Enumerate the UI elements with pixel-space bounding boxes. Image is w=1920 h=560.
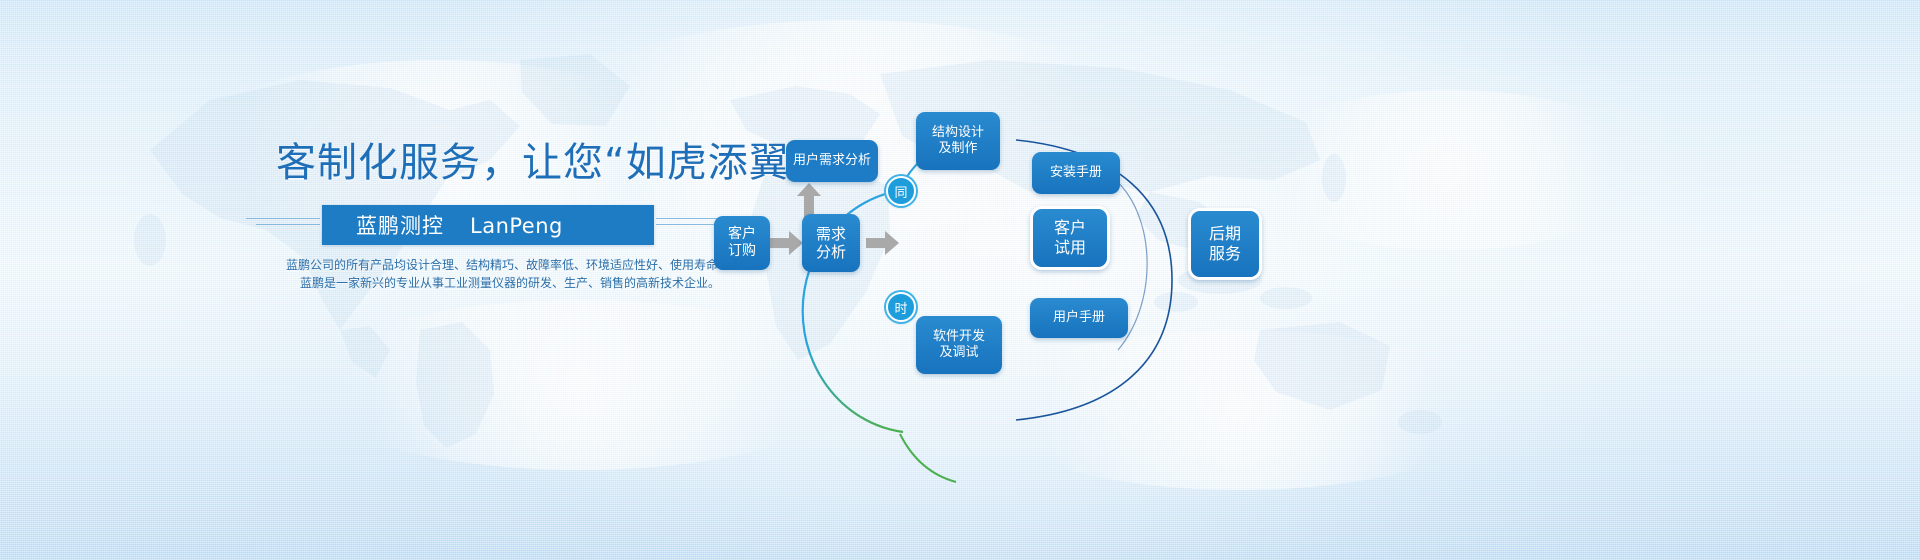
promo-banner: 客制化服务，让您“如虎添翼” 蓝鹏测控LanPeng 蓝鹏公司的所有产品均设计合… — [0, 0, 1920, 560]
flow-node-user-demand-analysis[interactable]: 用户需求分析 — [786, 140, 878, 182]
flow-node-install-manual[interactable]: 安装手册 — [1032, 152, 1120, 194]
flow-node-after-service[interactable]: 后期 服务 — [1188, 208, 1262, 280]
badge-tong: 同 — [886, 176, 916, 206]
process-flow-diagram: 用户需求分析 结构设计 及制作 安装手册 客户 订购 需求 分析 客户 试用 后… — [0, 0, 1920, 560]
flow-node-customer-order[interactable]: 客户 订购 — [714, 216, 770, 270]
flow-arc-graphic — [0, 0, 1920, 560]
flow-node-user-manual[interactable]: 用户手册 — [1030, 298, 1128, 338]
arrow-right-icon — [866, 230, 900, 256]
arrow-right-icon — [770, 230, 804, 256]
flow-node-software-dev[interactable]: 软件开发 及调试 — [916, 316, 1002, 374]
flow-node-demand-analysis[interactable]: 需求 分析 — [802, 214, 860, 272]
badge-shi: 时 — [886, 292, 916, 322]
flow-node-structure-design[interactable]: 结构设计 及制作 — [916, 112, 1000, 170]
flow-node-customer-trial[interactable]: 客户 试用 — [1030, 206, 1110, 270]
